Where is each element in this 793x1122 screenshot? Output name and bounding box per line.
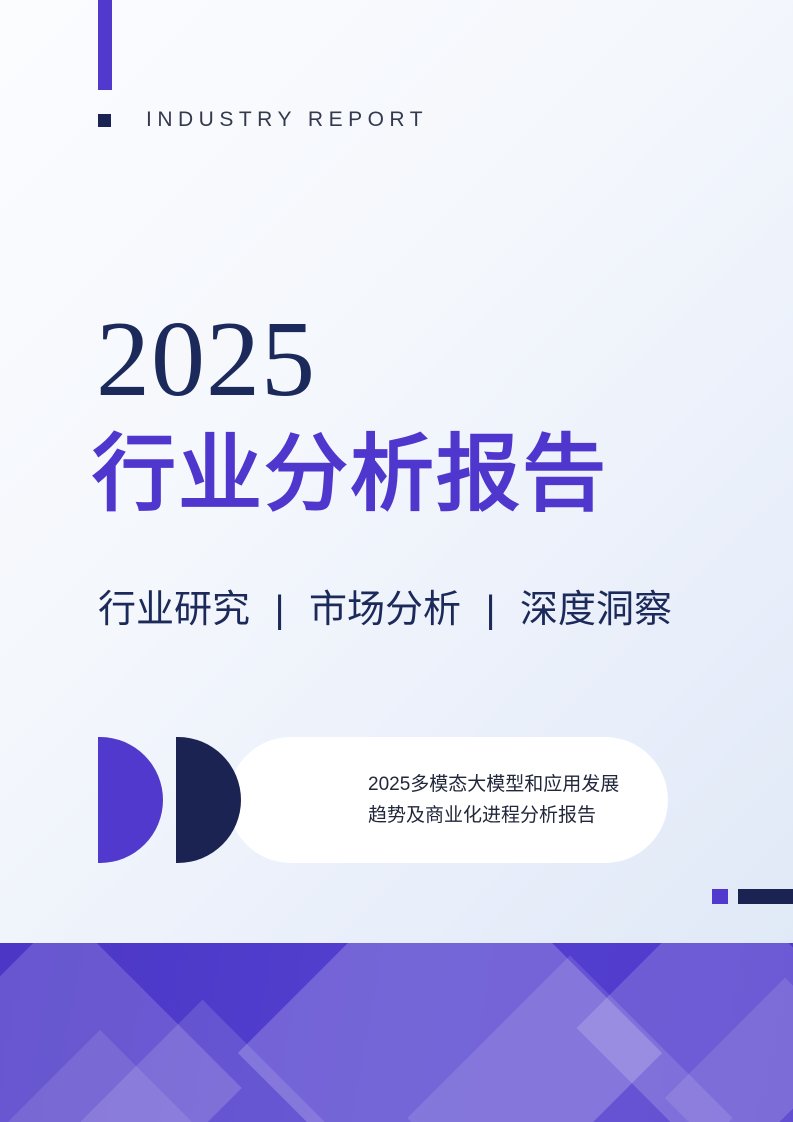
brand-logo: [98, 737, 248, 863]
report-title-block: 2025多模态大模型和应用发展趋势及商业化进程分析报告: [98, 737, 668, 863]
accent-vertical-bar: [98, 0, 112, 90]
subtitle-part-3: 深度洞察: [520, 589, 672, 631]
eyebrow-label: INDUSTRY REPORT: [146, 108, 428, 132]
decor-bar-marker: [738, 889, 793, 904]
subtitle-separator-1: |: [261, 589, 299, 631]
decor-square-marker: [712, 889, 728, 904]
report-year: 2025: [96, 306, 316, 414]
subtitle-separator-2: |: [472, 589, 510, 631]
subtitle-part-2: 市场分析: [309, 589, 461, 631]
square-marker-icon: [98, 114, 111, 127]
logo-d-right-icon: [176, 737, 241, 863]
subtitle-part-1: 行业研究: [98, 589, 250, 631]
logo-d-left-icon: [98, 737, 163, 863]
report-cover-page: INDUSTRY REPORT 2025 行业分析报告 行业研究 | 市场分析 …: [0, 0, 793, 1122]
page-title: 行业分析报告: [92, 432, 608, 516]
bottom-decorative-band: [0, 943, 793, 1122]
subtitle-tagline: 行业研究 | 市场分析 | 深度洞察: [98, 588, 672, 634]
report-title-text: 2025多模态大模型和应用发展趋势及商业化进程分析报告: [368, 769, 634, 832]
report-title-card: 2025多模态大模型和应用发展趋势及商业化进程分析报告: [228, 737, 668, 863]
eyebrow-row: INDUSTRY REPORT: [98, 108, 428, 132]
